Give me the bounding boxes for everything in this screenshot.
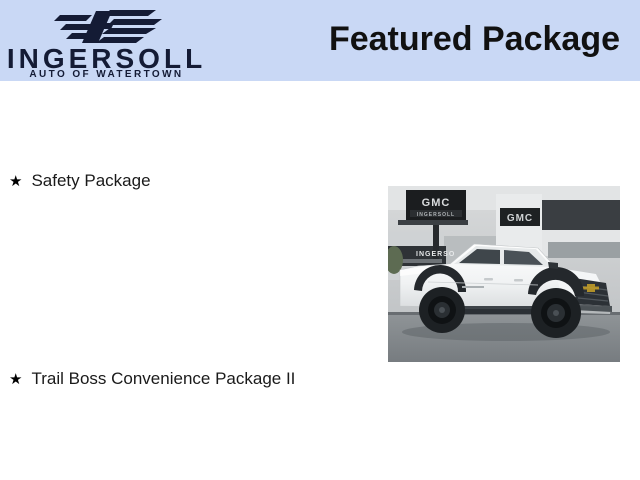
list-item: ★ Safety Package [9, 170, 151, 192]
svg-text:INGERSOLL: INGERSOLL [417, 212, 455, 218]
page-title: Featured Package [329, 20, 620, 59]
feature-label: Trail Boss Convenience Package II [31, 368, 295, 390]
dealer-subtext: AUTO OF WATERTOWN [4, 69, 209, 81]
star-bullet-icon: ★ [9, 170, 22, 192]
svg-text:INGERSO: INGERSO [416, 251, 455, 258]
feature-label: Safety Package [31, 170, 150, 192]
svg-text:GMC: GMC [507, 213, 533, 224]
svg-text:GMC: GMC [422, 197, 451, 209]
star-bullet-icon: ★ [9, 368, 22, 390]
dealer-logo[interactable]: INGERSOLL AUTO OF WATERTOWN [4, 3, 209, 81]
ingersoll-winged-emblem-icon [52, 5, 164, 45]
list-item: ★ Trail Boss Convenience Package II [9, 368, 295, 390]
vehicle-photo: GMC INGERSOLL GMC INGERSO [388, 186, 620, 362]
